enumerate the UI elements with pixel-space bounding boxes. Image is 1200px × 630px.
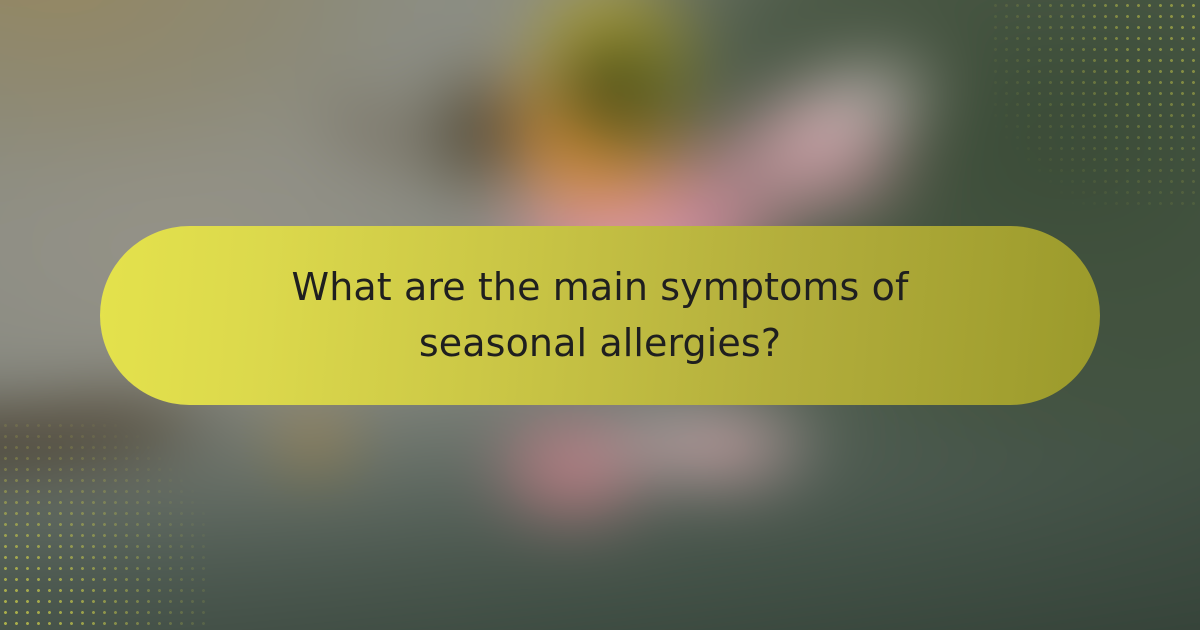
question-pill: What are the main symptoms of seasonal a… bbox=[100, 226, 1100, 405]
amber-highlight-dot bbox=[276, 412, 352, 469]
flower-bud-shadow-left bbox=[428, 72, 525, 194]
blossom-pink-below-right bbox=[655, 420, 793, 485]
background-tan-mass bbox=[0, 0, 379, 169]
question-text: What are the main symptoms of seasonal a… bbox=[230, 260, 970, 370]
flower-bud-shadow-right bbox=[559, 32, 642, 129]
question-card-image: What are the main symptoms of seasonal a… bbox=[0, 0, 1200, 630]
